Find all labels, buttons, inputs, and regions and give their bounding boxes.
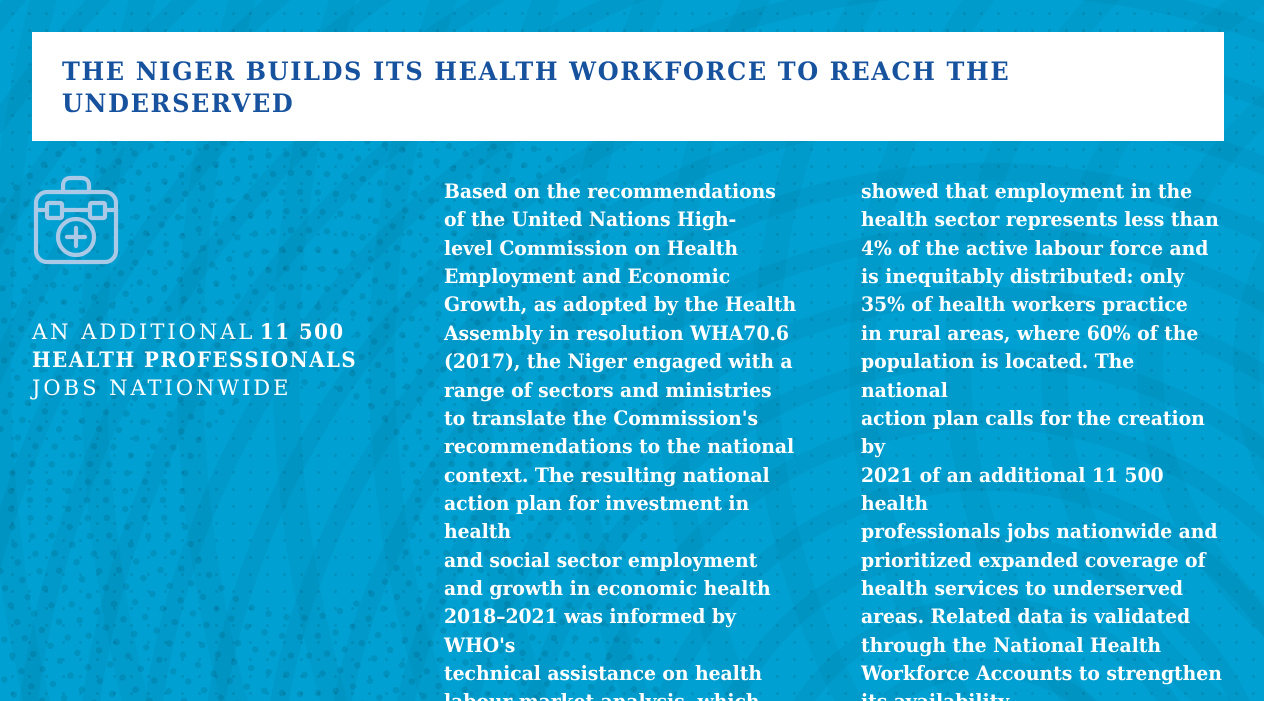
- medical-kit-icon: [32, 168, 120, 266]
- title-card: THE NIGER BUILDS ITS HEALTH WORKFORCE TO…: [32, 32, 1224, 141]
- stat-block: AN ADDITIONAL11 500 HEALTH PROFESSIONALS…: [32, 318, 422, 402]
- stat-value-label: HEALTH PROFESSIONALS: [32, 346, 357, 374]
- stat-value-number: 11 500: [260, 318, 345, 346]
- content-area: AN ADDITIONAL11 500 HEALTH PROFESSIONALS…: [0, 168, 1264, 688]
- stat-column: AN ADDITIONAL11 500 HEALTH PROFESSIONALS…: [32, 168, 422, 402]
- stat-prefix: AN ADDITIONAL: [32, 320, 255, 344]
- body-text-column-2: showed that employment in the health sec…: [861, 178, 1224, 701]
- body-text-column-1: Based on the recommendations of the Unit…: [444, 178, 807, 701]
- stat-line-2: HEALTH PROFESSIONALS: [32, 346, 422, 374]
- stat-line-1: AN ADDITIONAL11 500: [32, 318, 422, 346]
- stat-line-3: JOBS NATIONWIDE: [32, 374, 422, 402]
- page-title: THE NIGER BUILDS ITS HEALTH WORKFORCE TO…: [62, 56, 1149, 120]
- stat-suffix: JOBS NATIONWIDE: [32, 376, 291, 400]
